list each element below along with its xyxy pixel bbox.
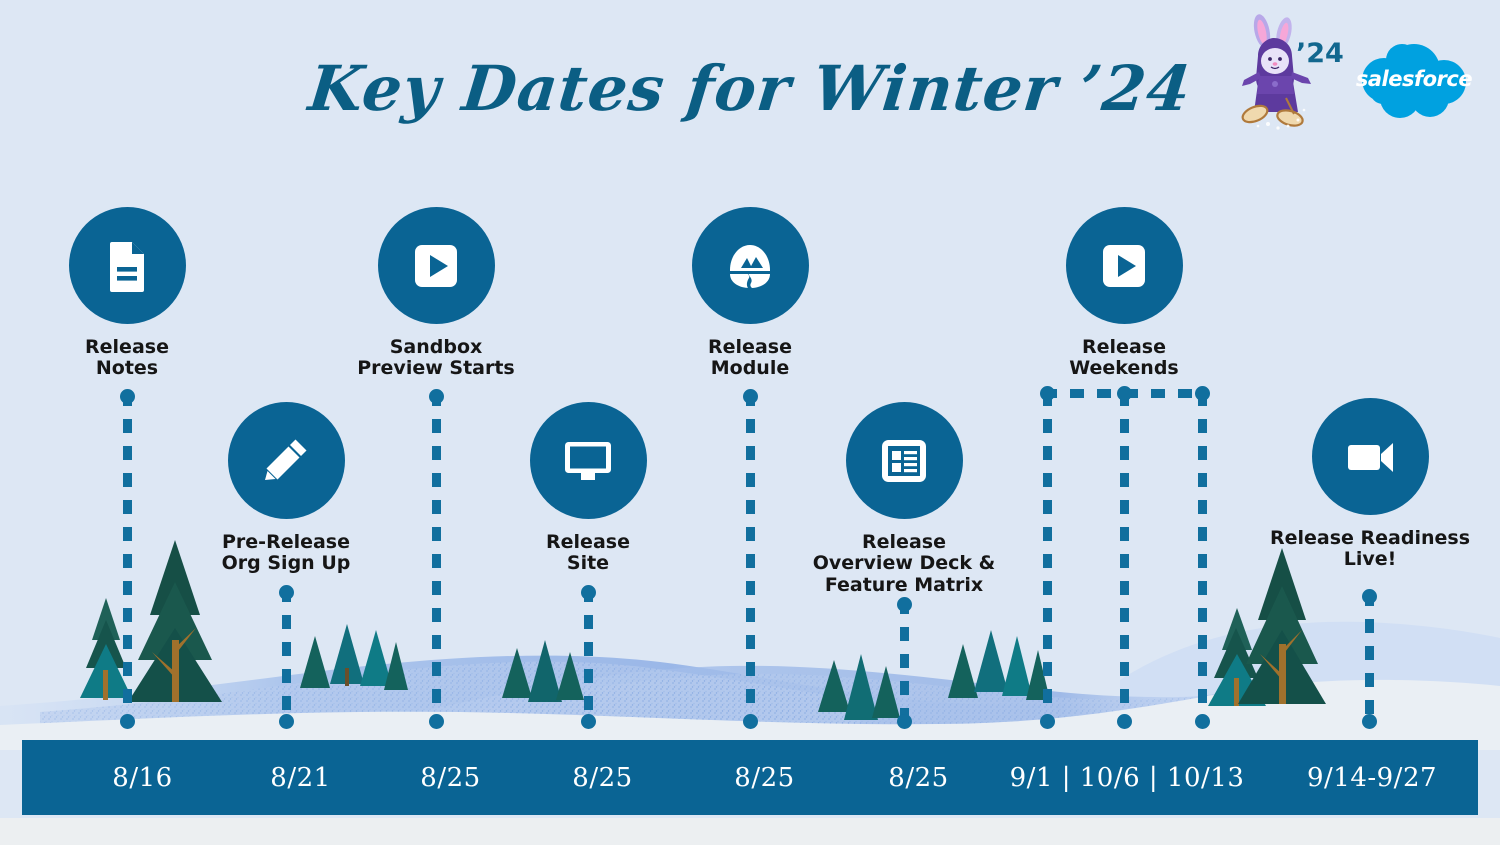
connector-dot-release-weekend-1-bottom xyxy=(1040,714,1055,729)
tree-grove-slope xyxy=(818,654,900,720)
connector-dot-release-site-bottom xyxy=(581,714,596,729)
milestone-label: Pre-Release Org Sign Up xyxy=(156,532,416,575)
connector-line-sandbox-preview xyxy=(432,392,441,718)
connector-dot-release-weekend-3-top xyxy=(1195,386,1210,401)
milestone-release-module[interactable]: Release Module xyxy=(620,207,880,380)
milestone-pre-release-org-sign-up[interactable]: Pre-Release Org Sign Up xyxy=(156,402,416,575)
document-icon xyxy=(98,237,156,295)
tree-grove-left-mid xyxy=(300,624,408,690)
date-release-readiness-live: 9/14-9/27 xyxy=(1272,740,1472,815)
connector-dot-release-notes-top xyxy=(120,389,135,404)
tree-grove-center xyxy=(502,640,584,702)
tree-grove-right xyxy=(948,630,1050,700)
connector-dot-release-notes-bottom xyxy=(120,714,135,729)
connector-line-release-site xyxy=(584,588,593,718)
connector-line-release-module xyxy=(746,392,755,718)
connector-dot-release-module-top xyxy=(743,389,758,404)
trailhead-icon xyxy=(721,237,779,295)
connector-dot-pre-release-org-bottom xyxy=(279,714,294,729)
connector-dot-pre-release-org-top xyxy=(279,585,294,600)
date-release-weekends: 9/1 | 10/6 | 10/13 xyxy=(952,740,1302,815)
milestone-release-readiness-live[interactable]: Release Readiness Live! xyxy=(1240,398,1500,571)
connector-line-release-weekend-3 xyxy=(1198,392,1207,718)
milestone-label: Release Weekends xyxy=(994,337,1254,380)
connector-dot-release-readiness-live-top xyxy=(1362,589,1377,604)
milestone-release-site[interactable]: Release Site xyxy=(458,402,718,575)
milestone-icon-circle xyxy=(530,402,647,519)
date-release-site: 8/25 xyxy=(510,740,695,815)
milestone-release-weekends[interactable]: Release Weekends xyxy=(994,207,1254,380)
play-icon xyxy=(1095,237,1153,295)
connector-dot-release-weekend-2-bottom xyxy=(1117,714,1132,729)
connector-line-release-readiness-live xyxy=(1365,592,1374,718)
timeline-date-bar: 8/16 8/21 8/25 8/25 8/25 8/25 9/1 | 10/6… xyxy=(22,740,1478,815)
connector-dot-release-overview-deck-bottom xyxy=(897,714,912,729)
milestone-release-overview-deck[interactable]: Release Overview Deck & Feature Matrix xyxy=(774,402,1034,596)
connector-dot-release-readiness-live-bottom xyxy=(1362,714,1377,729)
milestone-label: Release Site xyxy=(458,532,718,575)
milestone-label: Sandbox Preview Starts xyxy=(306,337,566,380)
connector-dot-release-site-top xyxy=(581,585,596,600)
connector-line-release-weekend-2 xyxy=(1120,392,1129,718)
connector-dot-release-weekend-1-top xyxy=(1040,386,1055,401)
milestone-label: Release Overview Deck & Feature Matrix xyxy=(774,532,1034,596)
milestone-icon-circle xyxy=(69,207,186,324)
connector-line-release-overview-deck xyxy=(900,600,909,718)
milestone-label: Release Notes xyxy=(0,337,257,380)
connector-dot-sandbox-preview-bottom xyxy=(429,714,444,729)
release-year-label: ’24 xyxy=(1296,38,1344,69)
video-camera-icon xyxy=(1341,428,1399,486)
milestone-label: Release Readiness Live! xyxy=(1240,528,1500,571)
milestone-icon-circle xyxy=(1066,207,1183,324)
infographic-canvas: Key Dates for Winter ’24 xyxy=(0,0,1500,845)
milestone-icon-circle xyxy=(378,207,495,324)
milestone-release-notes[interactable]: Release Notes xyxy=(0,207,257,380)
monitor-icon xyxy=(559,432,617,490)
connector-dot-sandbox-preview-top xyxy=(429,389,444,404)
connector-dot-release-weekend-2-top xyxy=(1117,386,1132,401)
milestone-icon-circle xyxy=(846,402,963,519)
connector-dot-release-module-bottom xyxy=(743,714,758,729)
milestone-sandbox-preview-starts[interactable]: Sandbox Preview Starts xyxy=(306,207,566,380)
milestone-icon-circle xyxy=(692,207,809,324)
connector-dot-release-weekend-3-bottom xyxy=(1195,714,1210,729)
list-layout-icon xyxy=(875,432,933,490)
connector-line-pre-release-org xyxy=(282,588,291,718)
connector-dot-release-overview-deck-top xyxy=(897,597,912,612)
pencil-icon xyxy=(257,432,315,490)
connector-line-release-weekend-1 xyxy=(1043,392,1052,718)
play-icon xyxy=(407,237,465,295)
milestone-icon-circle xyxy=(1312,398,1429,515)
winter-bunny-mascot-icon xyxy=(1228,14,1324,132)
page-bottom-margin xyxy=(0,818,1500,845)
salesforce-wordmark: salesforce xyxy=(1352,36,1476,122)
connector-line-release-notes xyxy=(123,392,132,718)
salesforce-logo: salesforce xyxy=(1352,36,1476,122)
milestone-label: Release Module xyxy=(620,337,880,380)
milestone-icon-circle xyxy=(228,402,345,519)
